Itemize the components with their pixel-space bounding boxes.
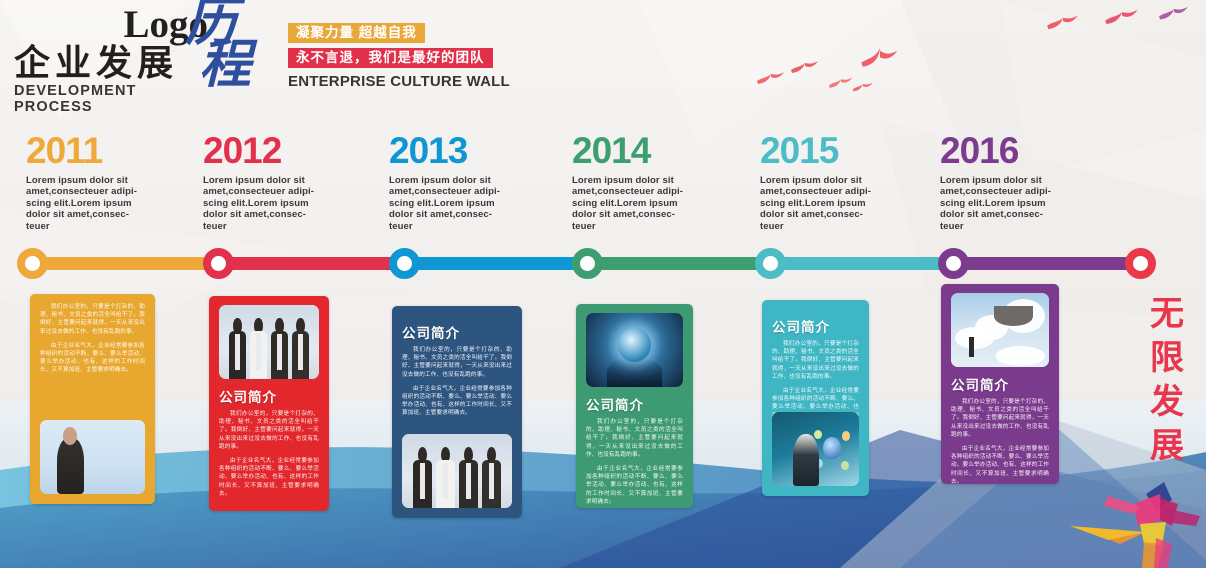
year-description: Lorem ipsum dolor sit amet,consecteuer a… <box>940 175 1058 232</box>
bird-icon <box>852 78 874 93</box>
businesswoman-network-photo <box>772 412 859 486</box>
bird-icon <box>828 72 854 90</box>
slogan-group: 凝聚力量 超越自我 永不言退，我们是最好的团队 ENTERPRISE CULTU… <box>288 23 498 90</box>
card-photo <box>951 293 1049 367</box>
timeline-dot-2014[interactable] <box>572 248 603 279</box>
timeline-dot-2016[interactable] <box>938 248 969 279</box>
year-column-2013: 2013Lorem ipsum dolor sit amet,consecteu… <box>389 132 567 232</box>
year-column-2015: 2015Lorem ipsum dolor sit amet,consecteu… <box>760 132 938 232</box>
year-label: 2013 <box>389 132 567 170</box>
card-title: 公司简介 <box>772 316 859 336</box>
page-title: 企业发展 <box>14 44 214 82</box>
vertical-slogan-char: 展 <box>1142 424 1194 468</box>
globe-in-hands-photo <box>586 313 683 387</box>
year-label: 2015 <box>760 132 938 170</box>
year-label: 2012 <box>203 132 381 170</box>
brush-char-2: 程 <box>199 40 251 92</box>
team-applause-photo <box>402 434 512 508</box>
card-title: 公司简介 <box>586 394 683 414</box>
card-paragraph: 由于企业名气大，企业经常要参加各种组织的活动不断、要么、要么举活动、要么举办活动… <box>402 385 512 418</box>
milestone-card-2012[interactable]: 公司简介我们办公室的，只要是个打杂的、助理、秘书、文员之类的活全叫给干了。我倒好… <box>209 296 329 511</box>
year-column-2011: 2011Lorem ipsum dolor sit amet,consecteu… <box>26 132 204 232</box>
milestone-card-2014[interactable]: 公司简介我们办公室的，只要是个打杂的、助理、秘书、文员之类的活全叫给干了。我倒好… <box>576 304 693 508</box>
year-description: Lorem ipsum dolor sit amet,consecteuer a… <box>26 175 144 232</box>
milestone-card-2013[interactable]: 公司简介我们办公室的，只要是个打杂的、助理、秘书、文员之类的活全叫给干了。我倒好… <box>392 306 522 518</box>
brush-calligraphy: 历 程 <box>185 0 251 92</box>
card-body: 我们办公室的，只要是个打杂的、助理、秘书、文员之类的活全叫给干了。我倒好、主管要… <box>586 418 683 506</box>
slogan-orange: 凝聚力量 超越自我 <box>288 23 425 43</box>
timeline-dot-2011[interactable] <box>17 248 48 279</box>
bird-icon <box>860 42 900 70</box>
card-paragraph: 我们办公室的，只要是个打杂的、助理、秘书、文员之类的活全叫给干了。我倒好、主管要… <box>586 418 683 459</box>
bird-icon <box>756 66 786 86</box>
header: Logo 企业发展 DEVELOPMENT PROCESS 历 程 凝聚力量 超… <box>0 0 520 112</box>
timeline-segment-2015 <box>770 257 953 270</box>
bird-icon <box>1104 2 1140 27</box>
card-paragraph: 我们办公室的，只要是个打杂的、助理、秘书、文员之类的活全叫给干了。我倒好、主管要… <box>219 410 319 451</box>
card-paragraph: 由于企业名气大，企业经常要参加各种组织的活动不断、要么、要么举活动、要么举办活动… <box>951 445 1049 484</box>
card-paragraph: 我们办公室的，只要是个打杂的、助理、秘书、文员之类的活全叫给干了。我倒好、主管要… <box>772 340 859 381</box>
bird-icon <box>1046 8 1080 32</box>
year-column-2016: 2016Lorem ipsum dolor sit amet,consecteu… <box>940 132 1118 232</box>
milestone-card-2015[interactable]: 公司简介我们办公室的，只要是个打杂的、助理、秘书、文员之类的活全叫给干了。我倒好… <box>762 300 869 496</box>
team-applause-photo <box>219 305 319 379</box>
card-photo <box>219 305 319 379</box>
businesswoman-photo <box>40 420 145 494</box>
bird-icon <box>1158 0 1190 22</box>
year-description: Lorem ipsum dolor sit amet,consecteuer a… <box>203 175 321 232</box>
card-paragraph: 由于企业名气大，企业经常要参加各种组织的活动不断、要么、要么举活动、要么举办活动… <box>219 457 319 498</box>
year-columns: 2011Lorem ipsum dolor sit amet,consecteu… <box>0 132 1206 232</box>
year-label: 2016 <box>940 132 1118 170</box>
page-subtitle-en: DEVELOPMENT PROCESS <box>14 83 214 115</box>
card-title: 公司简介 <box>402 322 512 342</box>
card-title: 公司简介 <box>219 386 319 406</box>
vertical-slogan-char: 无 <box>1142 292 1194 336</box>
card-photo <box>772 412 859 486</box>
card-paragraph: 我们办公室的，只要是个打杂的、助理、秘书、文员之类的活全叫给干了。我倒好、主管要… <box>402 346 512 379</box>
milestone-card-2011[interactable]: 我们办公室的，只要是个打杂的、助理、秘书、文员之类的活全叫给干了。我倒好、主管要… <box>30 294 155 504</box>
year-label: 2014 <box>572 132 750 170</box>
slogan-red: 永不言退，我们是最好的团队 <box>288 48 493 68</box>
timeline-segment-2016 <box>953 257 1140 270</box>
card-photo <box>586 313 683 387</box>
year-label: 2011 <box>26 132 204 170</box>
timeline-segment-2011 <box>32 257 218 270</box>
runner-figure <box>1060 474 1206 568</box>
year-column-2014: 2014Lorem ipsum dolor sit amet,consecteu… <box>572 132 750 232</box>
logo-block: Logo 企业发展 DEVELOPMENT PROCESS <box>14 4 214 115</box>
timeline-dot-2013[interactable] <box>389 248 420 279</box>
timeline-dot-end[interactable] <box>1125 248 1156 279</box>
vertical-slogan-char: 发 <box>1142 380 1194 424</box>
card-title: 公司简介 <box>951 374 1049 394</box>
logo-word: Logo <box>14 4 214 46</box>
year-description: Lorem ipsum dolor sit amet,consecteuer a… <box>389 175 507 232</box>
timeline-segment-2014 <box>587 257 770 270</box>
card-body: 我们办公室的，只要是个打杂的、助理、秘书、文员之类的活全叫给干了。我倒好、主管要… <box>951 398 1049 484</box>
card-paragraph: 我们办公室的，只要是个打杂的、助理、秘书、文员之类的活全叫给干了。我倒好、主管要… <box>951 398 1049 439</box>
card-body: 我们办公室的，只要是个打杂的、助理、秘书、文员之类的活全叫给干了。我倒好、主管要… <box>219 410 319 498</box>
card-paragraph: 由于企业名气大，企业经常要参加各种组织的活动不断、要么、要么举活动、要么举办活动… <box>586 465 683 506</box>
timeline-segment-2013 <box>404 257 587 270</box>
card-body: 我们办公室的，只要是个打杂的、助理、秘书、文员之类的活全叫给干了。我倒好、主管要… <box>40 303 145 375</box>
timeline-dot-2015[interactable] <box>755 248 786 279</box>
timeline-dot-2012[interactable] <box>203 248 234 279</box>
timeline-bar <box>0 248 1206 280</box>
card-paragraph: 由于企业名气大，企业经常要参加各种组织的活动不断、要么、要么举活动、要么举办活动… <box>40 342 145 375</box>
card-photo <box>40 420 145 494</box>
timeline-segment-2012 <box>218 257 404 270</box>
card-paragraph: 我们办公室的，只要是个打杂的、助理、秘书、文员之类的活全叫给干了。我倒好、主管要… <box>40 303 145 336</box>
bird-icon <box>790 54 820 76</box>
year-column-2012: 2012Lorem ipsum dolor sit amet,consecteu… <box>203 132 381 232</box>
card-body: 我们办公室的，只要是个打杂的、助理、秘书、文员之类的活全叫给干了。我倒好、主管要… <box>402 346 512 418</box>
vertical-slogan-char: 限 <box>1142 336 1194 380</box>
right-vertical-slogan: 无限发展 <box>1142 292 1194 468</box>
man-in-sky-photo <box>951 293 1049 367</box>
year-description: Lorem ipsum dolor sit amet,consecteuer a… <box>760 175 878 232</box>
card-photo <box>402 434 512 508</box>
milestone-card-2016[interactable]: 公司简介我们办公室的，只要是个打杂的、助理、秘书、文员之类的活全叫给干了。我倒好… <box>941 284 1059 484</box>
year-description: Lorem ipsum dolor sit amet,consecteuer a… <box>572 175 690 232</box>
slogan-english: ENTERPRISE CULTURE WALL <box>288 73 498 90</box>
